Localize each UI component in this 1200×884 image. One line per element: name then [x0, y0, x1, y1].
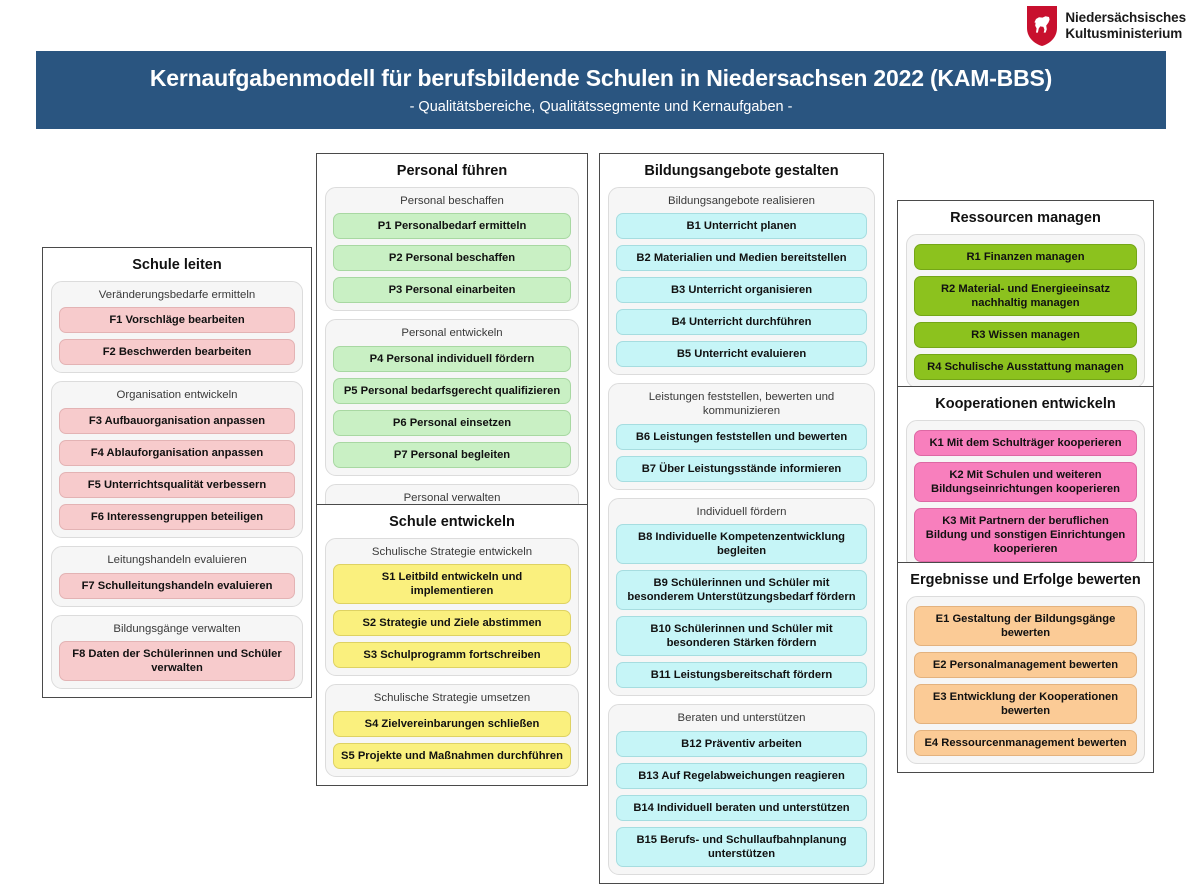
task-item[interactable]: P3 Personal einarbeiten	[333, 277, 571, 303]
task-item[interactable]: F6 Interessengruppen beteiligen	[59, 504, 295, 530]
task-item[interactable]: E2 Personalmanagement bewerten	[914, 652, 1137, 678]
task-item[interactable]: B15 Berufs- und Schullaufbahnplanung unt…	[616, 827, 867, 867]
task-item[interactable]: R1 Finanzen managen	[914, 244, 1137, 270]
area-title-schule-leiten: Schule leiten	[51, 257, 303, 274]
task-item[interactable]: B13 Auf Regelabweichungen reagieren	[616, 763, 867, 789]
segment-group: Bildungsgänge verwaltenF8 Daten der Schü…	[51, 615, 303, 690]
segment-group: R1 Finanzen managenR2 Material- und Ener…	[906, 234, 1145, 388]
task-item[interactable]: R3 Wissen managen	[914, 322, 1137, 348]
segment-group: K1 Mit dem Schulträger kooperierenK2 Mit…	[906, 420, 1145, 570]
segment-title: Schulische Strategie umsetzen	[333, 692, 571, 706]
segment-title: Leitungshandeln evaluieren	[59, 554, 295, 568]
task-item[interactable]: S5 Projekte und Maßnahmen durchführen	[333, 743, 571, 769]
segment-title: Organisation entwickeln	[59, 389, 295, 403]
segment-group: Organisation entwickelnF3 Aufbauorganisa…	[51, 381, 303, 538]
segment-title: Personal beschaffen	[333, 195, 571, 209]
task-item[interactable]: F7 Schulleitungshandeln evaluieren	[59, 573, 295, 599]
segment-group: Beraten und unterstützenB12 Präventiv ar…	[608, 704, 875, 875]
segment-group: Leistungen feststellen, bewerten und kom…	[608, 383, 875, 489]
task-item[interactable]: F2 Beschwerden bearbeiten	[59, 339, 295, 365]
segment-group: E1 Gestaltung der Bildungsgänge bewerten…	[906, 596, 1145, 764]
segment-group: Schulische Strategie entwickelnS1 Leitbi…	[325, 538, 579, 677]
task-item[interactable]: B10 Schülerinnen und Schüler mit besonde…	[616, 616, 867, 656]
task-item[interactable]: P5 Personal bedarfsgerecht qualifizieren	[333, 378, 571, 404]
task-item[interactable]: F1 Vorschläge bearbeiten	[59, 307, 295, 333]
task-item[interactable]: S4 Zielvereinbarungen schließen	[333, 711, 571, 737]
task-item[interactable]: E1 Gestaltung der Bildungsgänge bewerten	[914, 606, 1137, 646]
area-bildungsangebote-gestalten: Bildungsangebote gestaltenBildungsangebo…	[599, 153, 884, 884]
task-item[interactable]: P4 Personal individuell fördern	[333, 346, 571, 372]
task-item[interactable]: B4 Unterricht durchführen	[616, 309, 867, 335]
area-title-ressourcen-managen: Ressourcen managen	[906, 210, 1145, 227]
task-item[interactable]: F3 Aufbauorganisation anpassen	[59, 408, 295, 434]
segment-group: Personal entwickelnP4 Personal individue…	[325, 319, 579, 476]
task-item[interactable]: K1 Mit dem Schulträger kooperieren	[914, 430, 1137, 456]
ministry-logo-text: NiedersächsischesKultusministerium	[1065, 10, 1186, 42]
segment-group: Personal beschaffenP1 Personalbedarf erm…	[325, 187, 579, 312]
segment-title: Bildungsgänge verwalten	[59, 623, 295, 637]
segment-title: Bildungsangebote realisieren	[616, 195, 867, 209]
task-item[interactable]: K2 Mit Schulen und weiteren Bildungseinr…	[914, 462, 1137, 502]
task-item[interactable]: B11 Leistungsbereitschaft fördern	[616, 662, 867, 688]
ministry-logo: NiedersächsischesKultusministerium	[1027, 6, 1186, 46]
segment-group: Veränderungsbedarfe ermittelnF1 Vorschlä…	[51, 281, 303, 374]
task-item[interactable]: F5 Unterrichtsqualität verbessern	[59, 472, 295, 498]
page-title: Kernaufgabenmodell für berufsbildende Sc…	[150, 65, 1052, 91]
task-item[interactable]: P2 Personal beschaffen	[333, 245, 571, 271]
task-item[interactable]: B3 Unterricht organisieren	[616, 277, 867, 303]
task-item[interactable]: B9 Schülerinnen und Schüler mit besonder…	[616, 570, 867, 610]
area-personal-fuehren: Personal führenPersonal beschaffenP1 Per…	[316, 153, 588, 554]
area-schule-entwickeln: Schule entwickelnSchulische Strategie en…	[316, 504, 588, 786]
task-item[interactable]: B12 Präventiv arbeiten	[616, 731, 867, 757]
segment-title: Veränderungsbedarfe ermitteln	[59, 289, 295, 303]
area-title-ergebnisse-und-erfolge-bewerten: Ergebnisse und Erfolge bewerten	[906, 572, 1145, 589]
task-item[interactable]: B1 Unterricht planen	[616, 213, 867, 239]
task-item[interactable]: P6 Personal einsetzen	[333, 410, 571, 436]
title-banner: Kernaufgabenmodell für berufsbildende Sc…	[36, 51, 1166, 129]
lower-saxony-horse-shield-icon	[1027, 6, 1057, 46]
segment-group: Bildungsangebote realisierenB1 Unterrich…	[608, 187, 875, 376]
area-kooperationen-entwickeln: Kooperationen entwickelnK1 Mit dem Schul…	[897, 386, 1154, 579]
task-item[interactable]: B5 Unterricht evaluieren	[616, 341, 867, 367]
segment-group: Individuell fördernB8 Individuelle Kompe…	[608, 498, 875, 697]
task-item[interactable]: B6 Leistungen feststellen und bewerten	[616, 424, 867, 450]
task-item[interactable]: K3 Mit Partnern der beruflichen Bildung …	[914, 508, 1137, 562]
task-item[interactable]: S3 Schulprogramm fortschreiben	[333, 642, 571, 668]
task-item[interactable]: R2 Material- und Energieeinsatz nachhalt…	[914, 276, 1137, 316]
area-title-bildungsangebote-gestalten: Bildungsangebote gestalten	[608, 163, 875, 180]
segment-title: Personal entwickeln	[333, 327, 571, 341]
task-item[interactable]: P7 Personal begleiten	[333, 442, 571, 468]
area-ressourcen-managen: Ressourcen managenR1 Finanzen managenR2 …	[897, 200, 1154, 397]
segment-title: Individuell fördern	[616, 506, 867, 520]
task-item[interactable]: P1 Personalbedarf ermitteln	[333, 213, 571, 239]
task-item[interactable]: F8 Daten der Schülerinnen und Schüler ve…	[59, 641, 295, 681]
task-item[interactable]: B2 Materialien und Medien bereitstellen	[616, 245, 867, 271]
task-item[interactable]: B7 Über Leistungsstände informieren	[616, 456, 867, 482]
segment-group: Leitungshandeln evaluierenF7 Schulleitun…	[51, 546, 303, 607]
segment-title: Beraten und unterstützen	[616, 712, 867, 726]
ministry-logo-line2: Kultusministerium	[1065, 26, 1182, 41]
segment-title: Leistungen feststellen, bewerten und kom…	[616, 391, 867, 418]
segment-title: Schulische Strategie entwickeln	[333, 546, 571, 560]
area-title-schule-entwickeln: Schule entwickeln	[325, 514, 579, 531]
ministry-logo-line1: Niedersächsisches	[1065, 10, 1186, 25]
task-item[interactable]: E4 Ressourcenmanagement bewerten	[914, 730, 1137, 756]
segment-group: Schulische Strategie umsetzenS4 Zielvere…	[325, 684, 579, 777]
area-ergebnisse-und-erfolge-bewerten: Ergebnisse und Erfolge bewertenE1 Gestal…	[897, 562, 1154, 773]
area-schule-leiten: Schule leitenVeränderungsbedarfe ermitte…	[42, 247, 312, 698]
task-item[interactable]: B14 Individuell beraten und unterstützen	[616, 795, 867, 821]
area-title-personal-fuehren: Personal führen	[325, 163, 579, 180]
page-subtitle: - Qualitätsbereiche, Qualitätssegmente u…	[410, 99, 793, 115]
task-item[interactable]: R4 Schulische Ausstattung managen	[914, 354, 1137, 380]
task-item[interactable]: S1 Leitbild entwickeln und implementiere…	[333, 564, 571, 604]
task-item[interactable]: F4 Ablauforganisation anpassen	[59, 440, 295, 466]
area-title-kooperationen-entwickeln: Kooperationen entwickeln	[906, 396, 1145, 413]
task-item[interactable]: B8 Individuelle Kompetenzentwicklung beg…	[616, 524, 867, 564]
task-item[interactable]: E3 Entwicklung der Kooperationen bewerte…	[914, 684, 1137, 724]
task-item[interactable]: S2 Strategie und Ziele abstimmen	[333, 610, 571, 636]
